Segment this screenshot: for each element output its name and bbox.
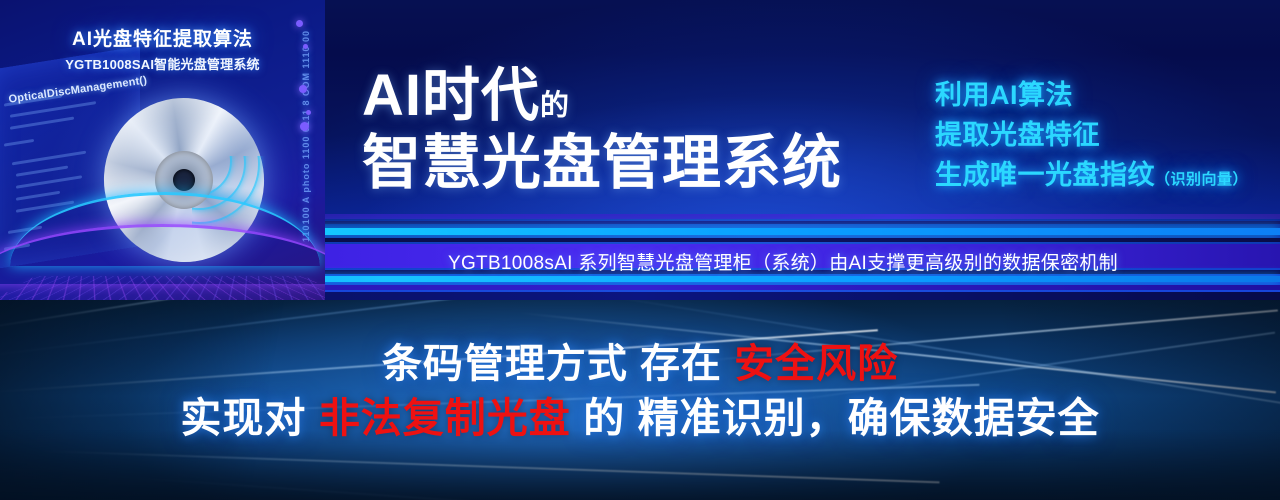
feature-note: （识别向量）	[1155, 171, 1248, 188]
bottom-headline-line2: 实现对 非法复制光盘 的 精准识别，确保数据安全	[0, 391, 1280, 445]
hero-title-line1: AI时代的	[362, 66, 842, 125]
decorative-dot	[300, 122, 309, 131]
card-title: AI光盘特征提取算法	[0, 24, 325, 51]
feature-item: 利用AI算法	[935, 76, 1248, 116]
feature-item: 生成唯一光盘指纹（识别向量）	[935, 156, 1248, 196]
feature-text: 提取光盘特征	[935, 120, 1100, 150]
bottom-line2-suffix: 的 精准识别，确保数据安全	[571, 395, 1100, 441]
product-card[interactable]: OpticalDiscManagement() 110100 A photo 1…	[0, 0, 325, 300]
hero-title-main: AI时代	[362, 63, 540, 128]
bottom-line1-highlight: 安全风险	[734, 342, 898, 386]
hero-title-line2: 智慧光盘管理系统	[362, 133, 842, 195]
banner-subtitle-strip: YGTB1008sAI 系列智慧光盘管理柜（系统）由AI支撑更高级别的数据保密机…	[448, 248, 1118, 275]
hero-title-particle: 的	[540, 90, 570, 122]
feature-text: 生成唯一光盘指纹	[935, 160, 1155, 190]
feature-item: 提取光盘特征	[935, 116, 1248, 156]
feature-text: 利用AI算法	[935, 80, 1073, 110]
bottom-headline: 条码管理方式 存在 安全风险 实现对 非法复制光盘 的 精准识别，确保数据安全	[0, 338, 1280, 445]
bottom-line2-highlight: 非法复制光盘	[319, 395, 571, 441]
feature-list: 利用AI算法 提取光盘特征 生成唯一光盘指纹（识别向量）	[935, 76, 1248, 196]
card-subtitle: YGTB1008SAI智能光盘管理系统	[0, 54, 325, 73]
bottom-headline-line1: 条码管理方式 存在 安全风险	[0, 338, 1280, 391]
bottom-line2-prefix: 实现对	[180, 395, 318, 441]
bottom-line1-text: 条码管理方式 存在	[382, 342, 734, 386]
decorative-dot	[299, 85, 307, 93]
top-banner-section: OpticalDiscManagement() 110100 A photo 1…	[0, 0, 1280, 300]
decorative-dot	[306, 110, 311, 115]
hero-title: AI时代的 智慧光盘管理系统	[362, 66, 842, 195]
promo-banner: OpticalDiscManagement() 110100 A photo 1…	[0, 0, 1280, 500]
